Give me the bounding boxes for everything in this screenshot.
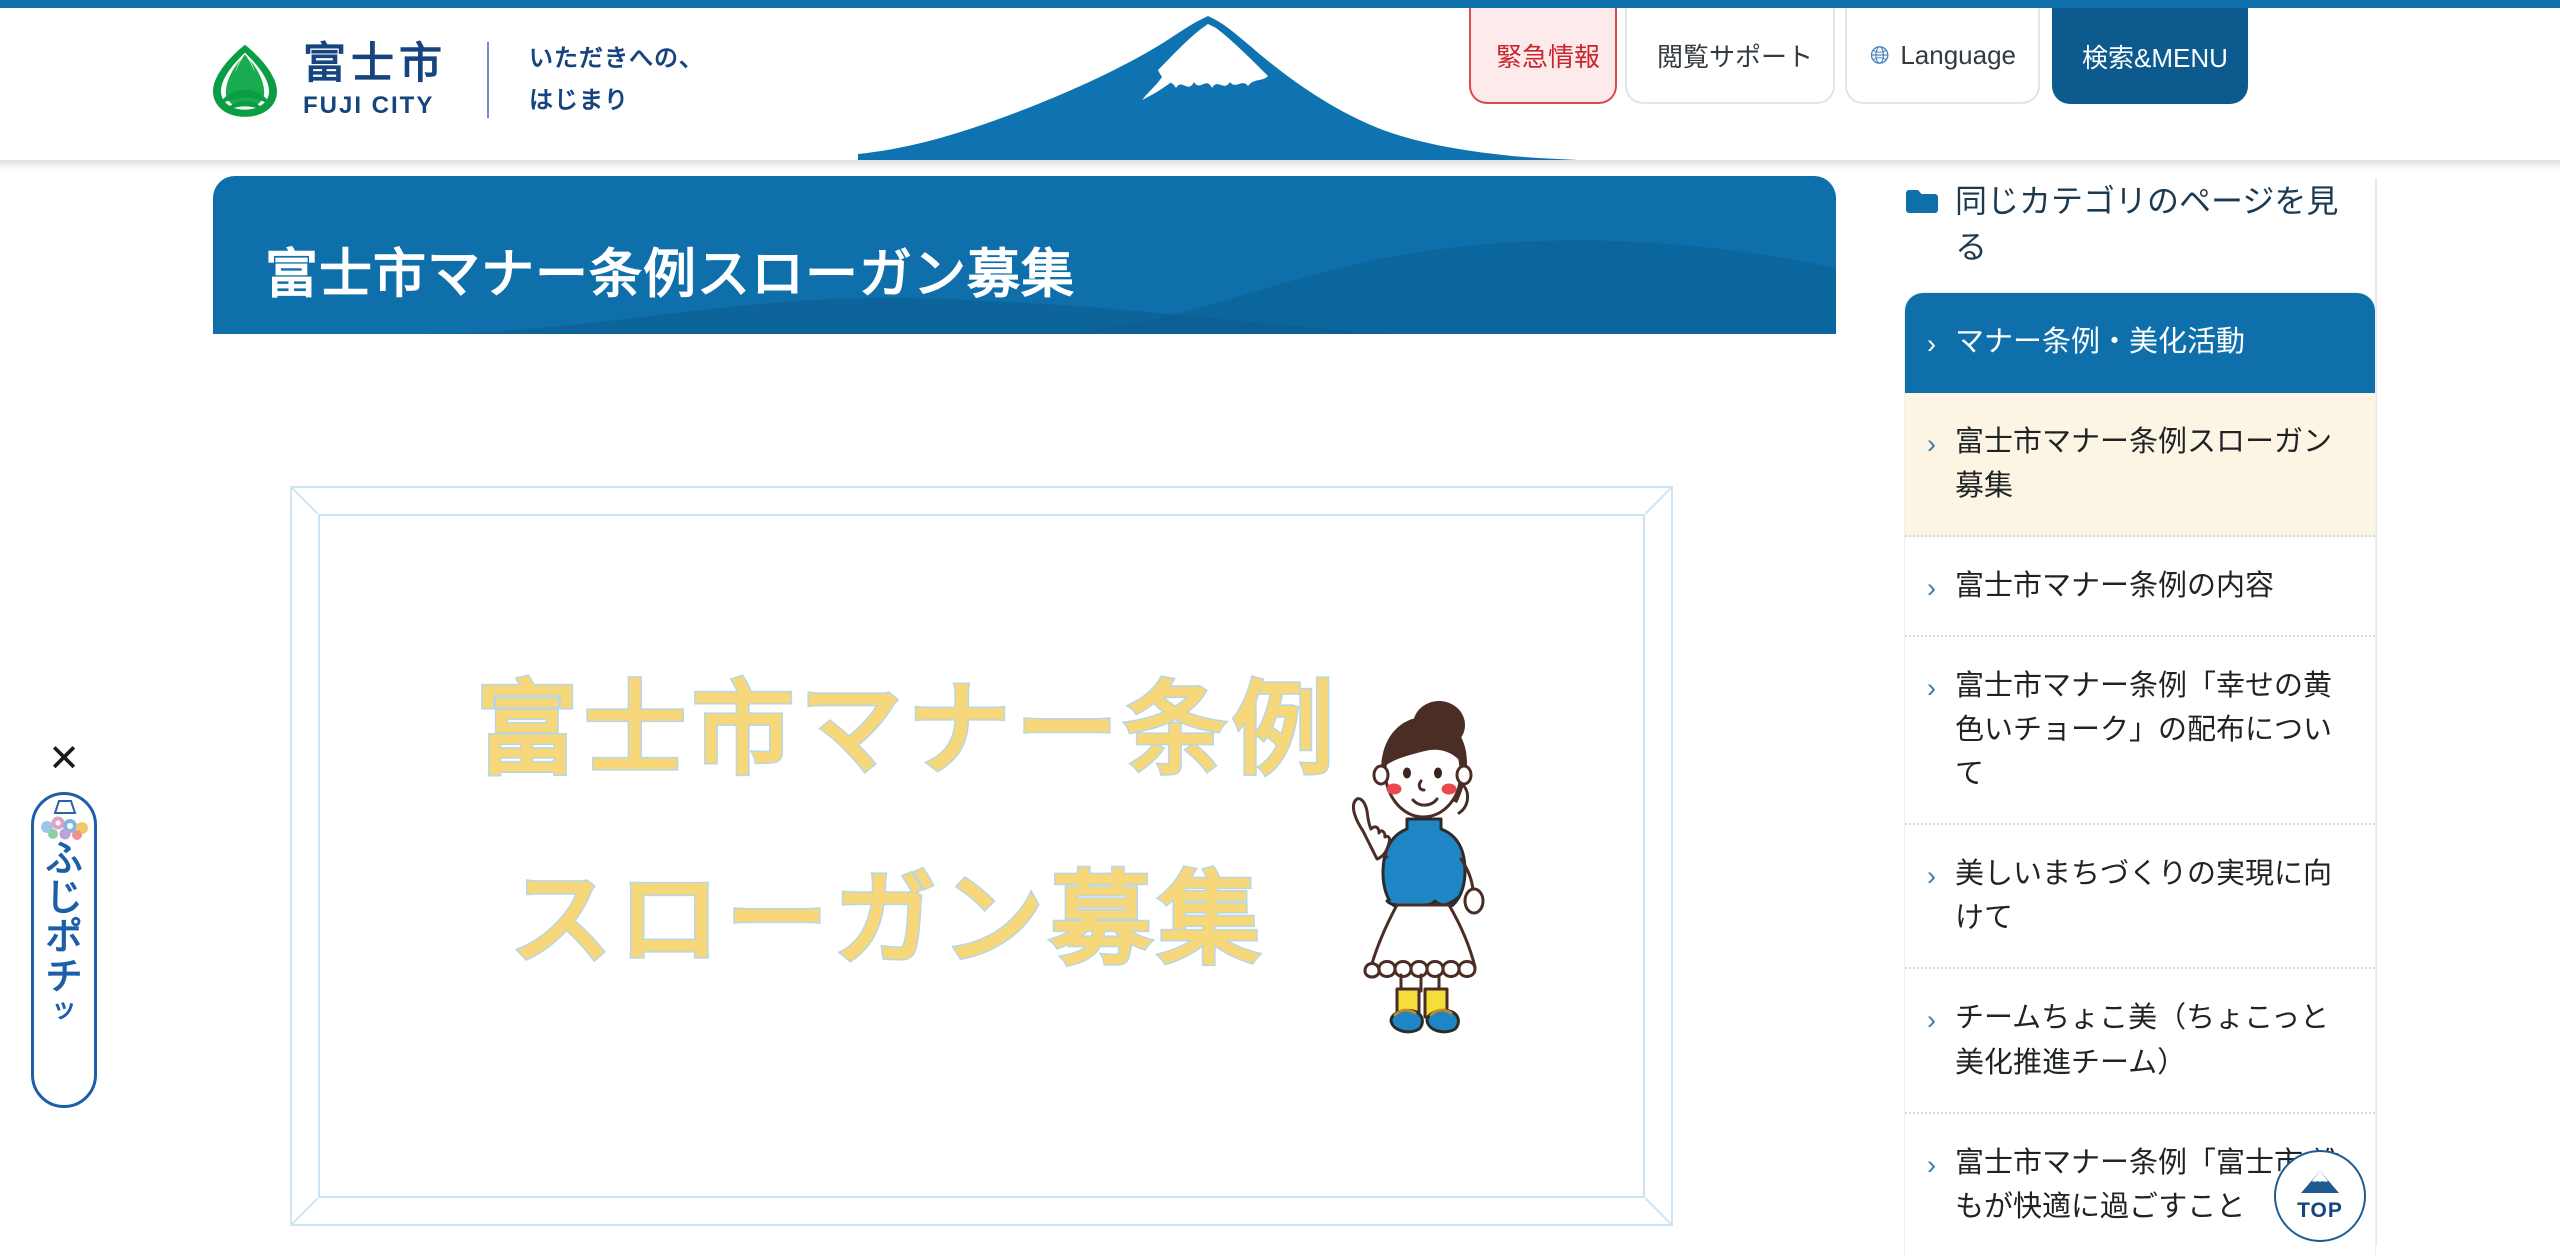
sidebar-item[interactable]: ›チームちょこ美（ちょこっと美化推進チーム） [1905, 969, 2375, 1113]
language-label: Language [1900, 40, 2016, 71]
search-menu-label: 検索&MENU [2082, 38, 2228, 75]
page-title-banner: 富士市マナー条例スローガン募集 [213, 176, 1836, 334]
mountain-up-icon [2299, 1169, 2341, 1197]
header-actions: 緊急情報 閲覧サポート Language [1469, 8, 2248, 108]
logo-divider [487, 42, 489, 118]
flower-cluster-icon [37, 797, 93, 841]
site-logo[interactable]: 富士市 FUJI CITY いただきへの、 はじまり [205, 38, 704, 122]
site-header: 富士市 FUJI CITY いただきへの、 はじまり 緊急情報 閲覧サポート [0, 8, 2560, 160]
header-shadow [0, 160, 2560, 170]
fuji-pochi-widget: ✕ ふ じ ポ チ ッ [18, 740, 110, 1108]
logo-tagline-line1: いただきへの、 [529, 38, 704, 80]
girl-character-illustration [1321, 691, 1521, 1036]
chevron-right-icon: › [1927, 331, 1941, 358]
sidebar-item-label: 富士市マナー条例「幸せの黄色いチョーク」の配布について [1955, 664, 2349, 796]
fuji-pochi-char-0: ふ [46, 839, 83, 878]
sidebar-item-label: 富士市マナー条例スローガン募集 [1955, 420, 2349, 508]
scroll-to-top-button[interactable]: TOP [2274, 1150, 2366, 1242]
fuji-pochi-char-1: じ [46, 878, 83, 917]
browsing-support-button[interactable]: 閲覧サポート [1625, 8, 1835, 104]
poster-image[interactable]: 富士市マナー条例 スローガン募集 [290, 486, 1673, 1226]
poster-headline-1: 富士市マナー条例 [476, 648, 1340, 795]
frame-corner-icon [1645, 1198, 1671, 1224]
fuji-pochi-button[interactable]: ふ じ ポ チ ッ [31, 792, 97, 1108]
frame-corner-icon [1645, 488, 1671, 514]
close-icon[interactable]: ✕ [48, 740, 80, 778]
globe-icon [1869, 40, 1890, 70]
chevron-right-icon: › [1927, 863, 1941, 890]
logo-romaji: FUJI CITY [303, 94, 447, 118]
chevron-right-icon: › [1927, 431, 1941, 458]
sidebar-item[interactable]: ›富士市マナー条例スローガン募集 [1905, 393, 2375, 537]
language-button[interactable]: Language [1845, 8, 2040, 104]
top-accent-rule [0, 0, 2560, 8]
fuji-leaf-logo-icon [205, 40, 285, 120]
sidebar-heading: 同じカテゴリのページを見る [1905, 178, 2375, 271]
emergency-info-button[interactable]: 緊急情報 [1469, 8, 1617, 104]
chevron-right-icon: › [1927, 575, 1941, 602]
main-content: 富士市マナー条例 スローガン募集 [290, 486, 1673, 1226]
search-menu-button[interactable]: 検索&MENU [2052, 8, 2248, 104]
frame-corner-icon [292, 1198, 318, 1224]
chevron-right-icon: › [1927, 675, 1941, 702]
emergency-info-label: 緊急情報 [1496, 37, 1600, 74]
sidebar-item-label: 富士市マナー条例の内容 [1955, 564, 2274, 608]
logo-kanji: 富士市 [303, 43, 447, 86]
fuji-pochi-char-4: ッ [51, 996, 76, 1023]
chevron-right-icon: › [1927, 1152, 1941, 1179]
category-sidebar: 同じカテゴリのページを見る ›マナー条例・美化活動›富士市マナー条例スローガン募… [1905, 178, 2375, 1256]
sidebar-item[interactable]: ›富士市マナー条例「幸せの黄色いチョーク」の配布について [1905, 637, 2375, 825]
sidebar-heading-text: 同じカテゴリのページを見る [1955, 178, 2369, 271]
poster-headline-2: スローガン募集 [510, 838, 1266, 985]
sidebar-item-label: マナー条例・美化活動 [1955, 320, 2245, 364]
frame-corner-icon [292, 488, 318, 514]
sidebar-item[interactable]: ›富士市マナー条例の内容 [1905, 537, 2375, 637]
chevron-right-icon: › [1927, 1007, 1941, 1034]
sidebar-item-label: チームちょこ美（ちょこっと美化推進チーム） [1955, 996, 2349, 1084]
fuji-pochi-char-2: ポ [46, 917, 83, 956]
browsing-support-label: 閲覧サポート [1657, 37, 1813, 74]
page-title: 富士市マナー条例スローガン募集 [213, 176, 1836, 308]
sidebar-item[interactable]: ›美しいまちづくりの実現に向けて [1905, 825, 2375, 969]
folder-icon [1905, 188, 1939, 216]
sidebar-item[interactable]: ›マナー条例・美化活動 [1905, 293, 2375, 393]
logo-tagline-line2: はじまり [529, 80, 704, 122]
content-divider [2375, 178, 2377, 1246]
sidebar-list: ›マナー条例・美化活動›富士市マナー条例スローガン募集›富士市マナー条例の内容›… [1905, 293, 2375, 1256]
scroll-to-top-label: TOP [2297, 1199, 2343, 1223]
fuji-pochi-char-3: チ [46, 957, 83, 996]
sidebar-item-label: 美しいまちづくりの実現に向けて [1955, 852, 2349, 940]
